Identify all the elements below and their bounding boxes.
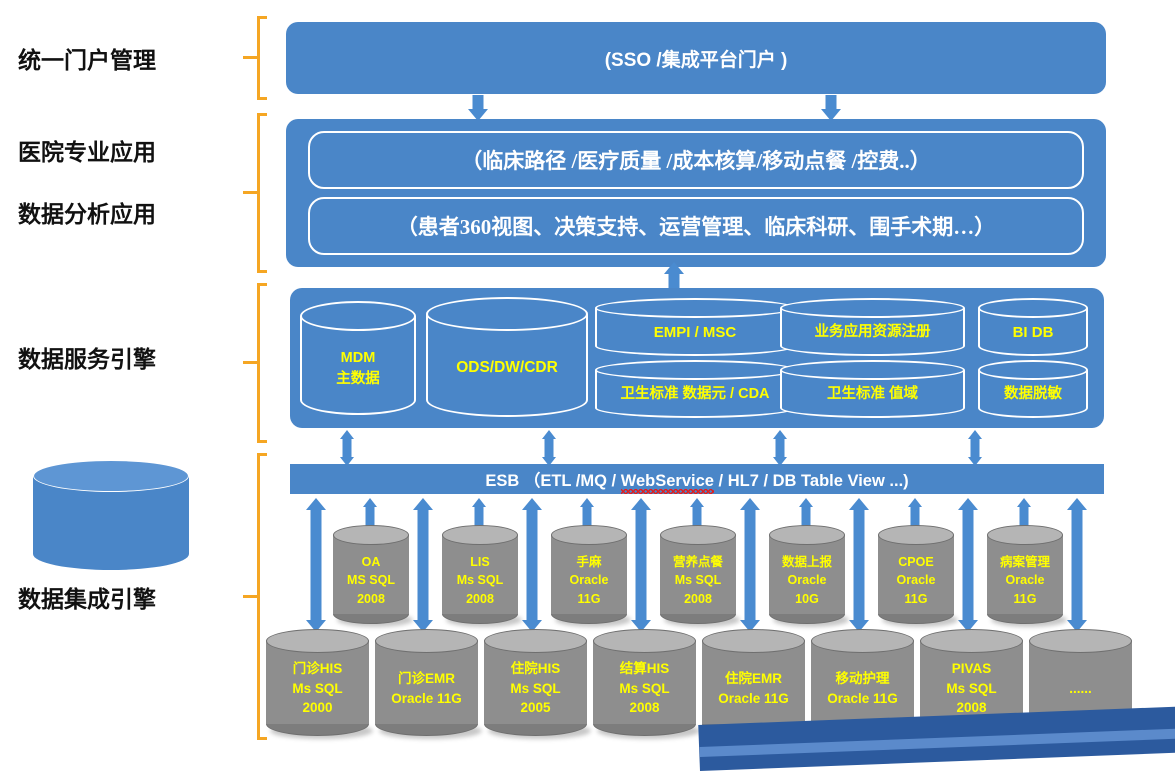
source-system-nutrition[interactable]: 营养点餐 Ms SQL 2008 — [660, 525, 736, 624]
esb-prefix: ESB （ETL /MQ / — [485, 472, 620, 490]
nutrition-name: 营养点餐 — [673, 553, 723, 571]
source-system-outpatient-his-label: 门诊HIS Ms SQL 2000 — [266, 649, 369, 728]
application-row-specialty-label: （临床路径 /医疗质量 /成本核算/移动点餐 /控费..） — [461, 145, 931, 175]
sso-portal-label: (SSO /集成平台门户 ) — [286, 22, 1106, 94]
medical-records-name: 病案管理 — [1000, 553, 1050, 571]
masking-line1: 数据脱敏 — [1004, 384, 1062, 405]
arrow-esb-bottom-2 — [410, 498, 436, 632]
arrow-esb-bottom-5 — [737, 498, 763, 632]
pivas-db: Ms SQL — [946, 679, 996, 699]
source-system-outpatient-his[interactable]: 门诊HIS Ms SQL 2000 — [266, 629, 369, 736]
data-service-cylinder-ods-label: ODS/DW/CDR — [426, 337, 588, 399]
application-row-specialty[interactable]: （临床路径 /医疗质量 /成本核算/移动点餐 /控费..） — [308, 131, 1084, 189]
source-system-mobile-nursing-label: 移动护理 Oracle 11G — [811, 649, 914, 728]
arrow-dataservice-esb-4 — [963, 430, 987, 466]
source-system-lis[interactable]: LIS Ms SQL 2008 — [442, 525, 518, 624]
source-system-medical-records[interactable]: 病案管理 Oracle 11G — [987, 525, 1063, 624]
valueset-line1: 卫生标准 值域 — [827, 384, 918, 405]
layer-label-data-service: 数据服务引擎 — [18, 345, 156, 374]
source-system-settlement-his[interactable]: 结算HIS Ms SQL 2008 — [593, 629, 696, 736]
esb-webservice-misspelled: WebService — [621, 472, 714, 490]
data-service-cylinder-bidb[interactable]: BI DB — [978, 298, 1088, 356]
cpoe-version: 11G — [905, 590, 928, 608]
layer-label-portal: 统一门户管理 — [18, 46, 156, 75]
data-service-cylinder-valueset-label: 卫生标准 值域 — [780, 378, 965, 412]
settlement-his-version: 2008 — [629, 698, 659, 718]
arrow-sso-to-apps-right — [818, 95, 844, 121]
source-system-lis-label: LIS Ms SQL 2008 — [442, 543, 518, 618]
data-service-cylinder-masking-label: 数据脱敏 — [978, 378, 1088, 412]
source-system-inpatient-his-label: 住院HIS Ms SQL 2005 — [484, 649, 587, 728]
anesthesia-version: 11G — [578, 590, 601, 608]
data-service-cylinder-resource-registry-label: 业务应用资源注册 — [780, 316, 965, 350]
brace-data-integration — [243, 453, 263, 740]
layer-label-data-integration: 数据集成引擎 — [18, 585, 156, 614]
cpoe-db: Oracle — [897, 571, 936, 589]
outpatient-emr-db: Oracle 11G — [391, 689, 462, 709]
source-system-pivas-label: PIVAS Ms SQL 2008 — [920, 649, 1023, 728]
source-system-cpoe[interactable]: CPOE Oracle 11G — [878, 525, 954, 624]
mdm-line1: MDM — [341, 348, 376, 369]
data-report-version: 10G — [795, 590, 819, 608]
data-service-cylinder-empi-label: EMPI / MSC — [595, 316, 795, 350]
nutrition-db: Ms SQL — [675, 571, 722, 589]
data-service-layer-box: MDM 主数据 ODS/DW/CDR EMPI / MSC — [290, 288, 1104, 428]
architecture-diagram-canvas: 统一门户管理 医院专业应用 数据分析应用 数据服务引擎 数据集成引擎 (SSO … — [0, 0, 1175, 757]
application-row-analytics-label: （患者360视图、决策支持、运营管理、临床科研、围手术期…） — [397, 211, 996, 241]
data-service-cylinder-masking[interactable]: 数据脱敏 — [978, 360, 1088, 418]
data-service-cylinder-valueset[interactable]: 卫生标准 值域 — [780, 360, 965, 418]
source-system-oa-label: OA MS SQL 2008 — [333, 543, 409, 618]
inpatient-his-db: Ms SQL — [510, 679, 560, 699]
arrow-dataservice-esb-2 — [537, 430, 561, 466]
esb-suffix: / HL7 / DB Table View ...) — [714, 472, 909, 490]
sso-portal-box[interactable]: (SSO /集成平台门户 ) — [286, 22, 1106, 94]
empi-line1: EMPI / MSC — [654, 322, 737, 344]
resource-registry-line1: 业务应用资源注册 — [815, 322, 931, 343]
source-system-anesthesia[interactable]: 手麻 Oracle 11G — [551, 525, 627, 624]
data-report-name: 数据上报 — [782, 553, 832, 571]
mobile-nursing-name: 移动护理 — [836, 669, 890, 689]
source-system-medical-records-label: 病案管理 Oracle 11G — [987, 543, 1063, 618]
medical-records-version: 11G — [1014, 590, 1037, 608]
oa-name: OA — [362, 553, 381, 571]
arrow-esb-bottom-6 — [846, 498, 872, 632]
data-service-cylinder-ods[interactable]: ODS/DW/CDR — [426, 297, 588, 417]
arrow-esb-bottom-8 — [1064, 498, 1090, 632]
source-system-settlement-his-label: 结算HIS Ms SQL 2008 — [593, 649, 696, 728]
arrow-esb-bottom-7 — [955, 498, 981, 632]
medical-records-db: Oracle — [1006, 571, 1045, 589]
source-system-outpatient-emr-label: 门诊EMR Oracle 11G — [375, 649, 478, 728]
data-service-cylinder-bidb-label: BI DB — [978, 316, 1088, 350]
brace-data-service — [243, 283, 263, 443]
source-system-inpatient-his[interactable]: 住院HIS Ms SQL 2005 — [484, 629, 587, 736]
data-service-cylinder-cda[interactable]: 卫生标准 数据元 / CDA — [595, 360, 795, 418]
source-system-data-report[interactable]: 数据上报 Oracle 10G — [769, 525, 845, 624]
esb-bar[interactable]: ESB （ETL /MQ / WebService / HL7 / DB Tab… — [290, 464, 1104, 494]
bidb-line1: BI DB — [1013, 322, 1054, 344]
arrow-dataservice-esb-3 — [768, 430, 792, 466]
source-system-more-label: ...... — [1029, 649, 1132, 728]
source-system-more[interactable]: ...... — [1029, 629, 1132, 736]
lis-version: 2008 — [466, 590, 494, 608]
arrow-dataservice-to-apps — [661, 262, 687, 290]
data-report-db: Oracle — [788, 571, 827, 589]
arrow-esb-bottom-1 — [303, 498, 329, 632]
oa-version: 2008 — [357, 590, 385, 608]
data-service-cylinder-cda-label: 卫生标准 数据元 / CDA — [595, 378, 795, 412]
outpatient-his-name: 门诊HIS — [293, 659, 343, 679]
esb-bar-label: ESB （ETL /MQ / WebService / HL7 / DB Tab… — [485, 467, 908, 491]
mdm-line2: 主数据 — [336, 369, 380, 390]
data-service-cylinder-resource-registry[interactable]: 业务应用资源注册 — [780, 298, 965, 356]
layer-label-apps-line1: 医院专业应用 — [18, 138, 156, 167]
oa-db: MS SQL — [347, 571, 395, 589]
arrow-sso-to-apps-left — [465, 95, 491, 121]
arrow-esb-bottom-3 — [519, 498, 545, 632]
ods-line1: ODS/DW/CDR — [456, 357, 558, 379]
settlement-his-name: 结算HIS — [620, 659, 670, 679]
source-system-pivas[interactable]: PIVAS Ms SQL 2008 — [920, 629, 1023, 736]
data-service-cylinder-mdm-label: MDM 主数据 — [300, 335, 416, 403]
lis-db: Ms SQL — [457, 571, 504, 589]
data-service-cylinder-mdm[interactable]: MDM 主数据 — [300, 301, 416, 415]
data-integration-engine-icon — [33, 460, 189, 570]
layer-label-apps-line2: 数据分析应用 — [18, 200, 156, 229]
source-system-inpatient-emr[interactable]: 住院EMR Oracle 11G — [702, 629, 805, 736]
outpatient-emr-name: 门诊EMR — [398, 669, 455, 689]
source-system-inpatient-emr-label: 住院EMR Oracle 11G — [702, 649, 805, 728]
source-system-outpatient-emr[interactable]: 门诊EMR Oracle 11G — [375, 629, 478, 736]
outpatient-his-version: 2000 — [302, 698, 332, 718]
source-system-nutrition-label: 营养点餐 Ms SQL 2008 — [660, 543, 736, 618]
source-system-mobile-nursing[interactable]: 移动护理 Oracle 11G — [811, 629, 914, 736]
settlement-his-db: Ms SQL — [619, 679, 669, 699]
anesthesia-db: Oracle — [570, 571, 609, 589]
brace-portal — [243, 16, 263, 100]
data-service-cylinder-empi[interactable]: EMPI / MSC — [595, 298, 795, 356]
application-row-analytics[interactable]: （患者360视图、决策支持、运营管理、临床科研、围手术期…） — [308, 197, 1084, 255]
inpatient-his-name: 住院HIS — [511, 659, 561, 679]
inpatient-his-version: 2005 — [520, 698, 550, 718]
source-system-cpoe-label: CPOE Oracle 11G — [878, 543, 954, 618]
application-layer-box: （临床路径 /医疗质量 /成本核算/移动点餐 /控费..） （患者360视图、决… — [286, 119, 1106, 267]
arrow-esb-bottom-4 — [628, 498, 654, 632]
pivas-name: PIVAS — [952, 659, 992, 679]
cda-line1: 卫生标准 数据元 / CDA — [620, 384, 769, 405]
arrow-dataservice-esb-1 — [335, 430, 359, 466]
nutrition-version: 2008 — [684, 590, 712, 608]
mobile-nursing-db: Oracle 11G — [827, 689, 898, 709]
pivas-version: 2008 — [956, 698, 986, 718]
anesthesia-name: 手麻 — [576, 553, 601, 571]
lis-name: LIS — [470, 553, 489, 571]
inpatient-emr-db: Oracle 11G — [718, 689, 789, 709]
outpatient-his-db: Ms SQL — [292, 679, 342, 699]
source-system-anesthesia-label: 手麻 Oracle 11G — [551, 543, 627, 618]
more-db: ...... — [1069, 679, 1092, 699]
brace-applications — [243, 113, 263, 273]
inpatient-emr-name: 住院EMR — [725, 669, 782, 689]
cpoe-name: CPOE — [898, 553, 933, 571]
source-system-data-report-label: 数据上报 Oracle 10G — [769, 543, 845, 618]
source-system-oa[interactable]: OA MS SQL 2008 — [333, 525, 409, 624]
